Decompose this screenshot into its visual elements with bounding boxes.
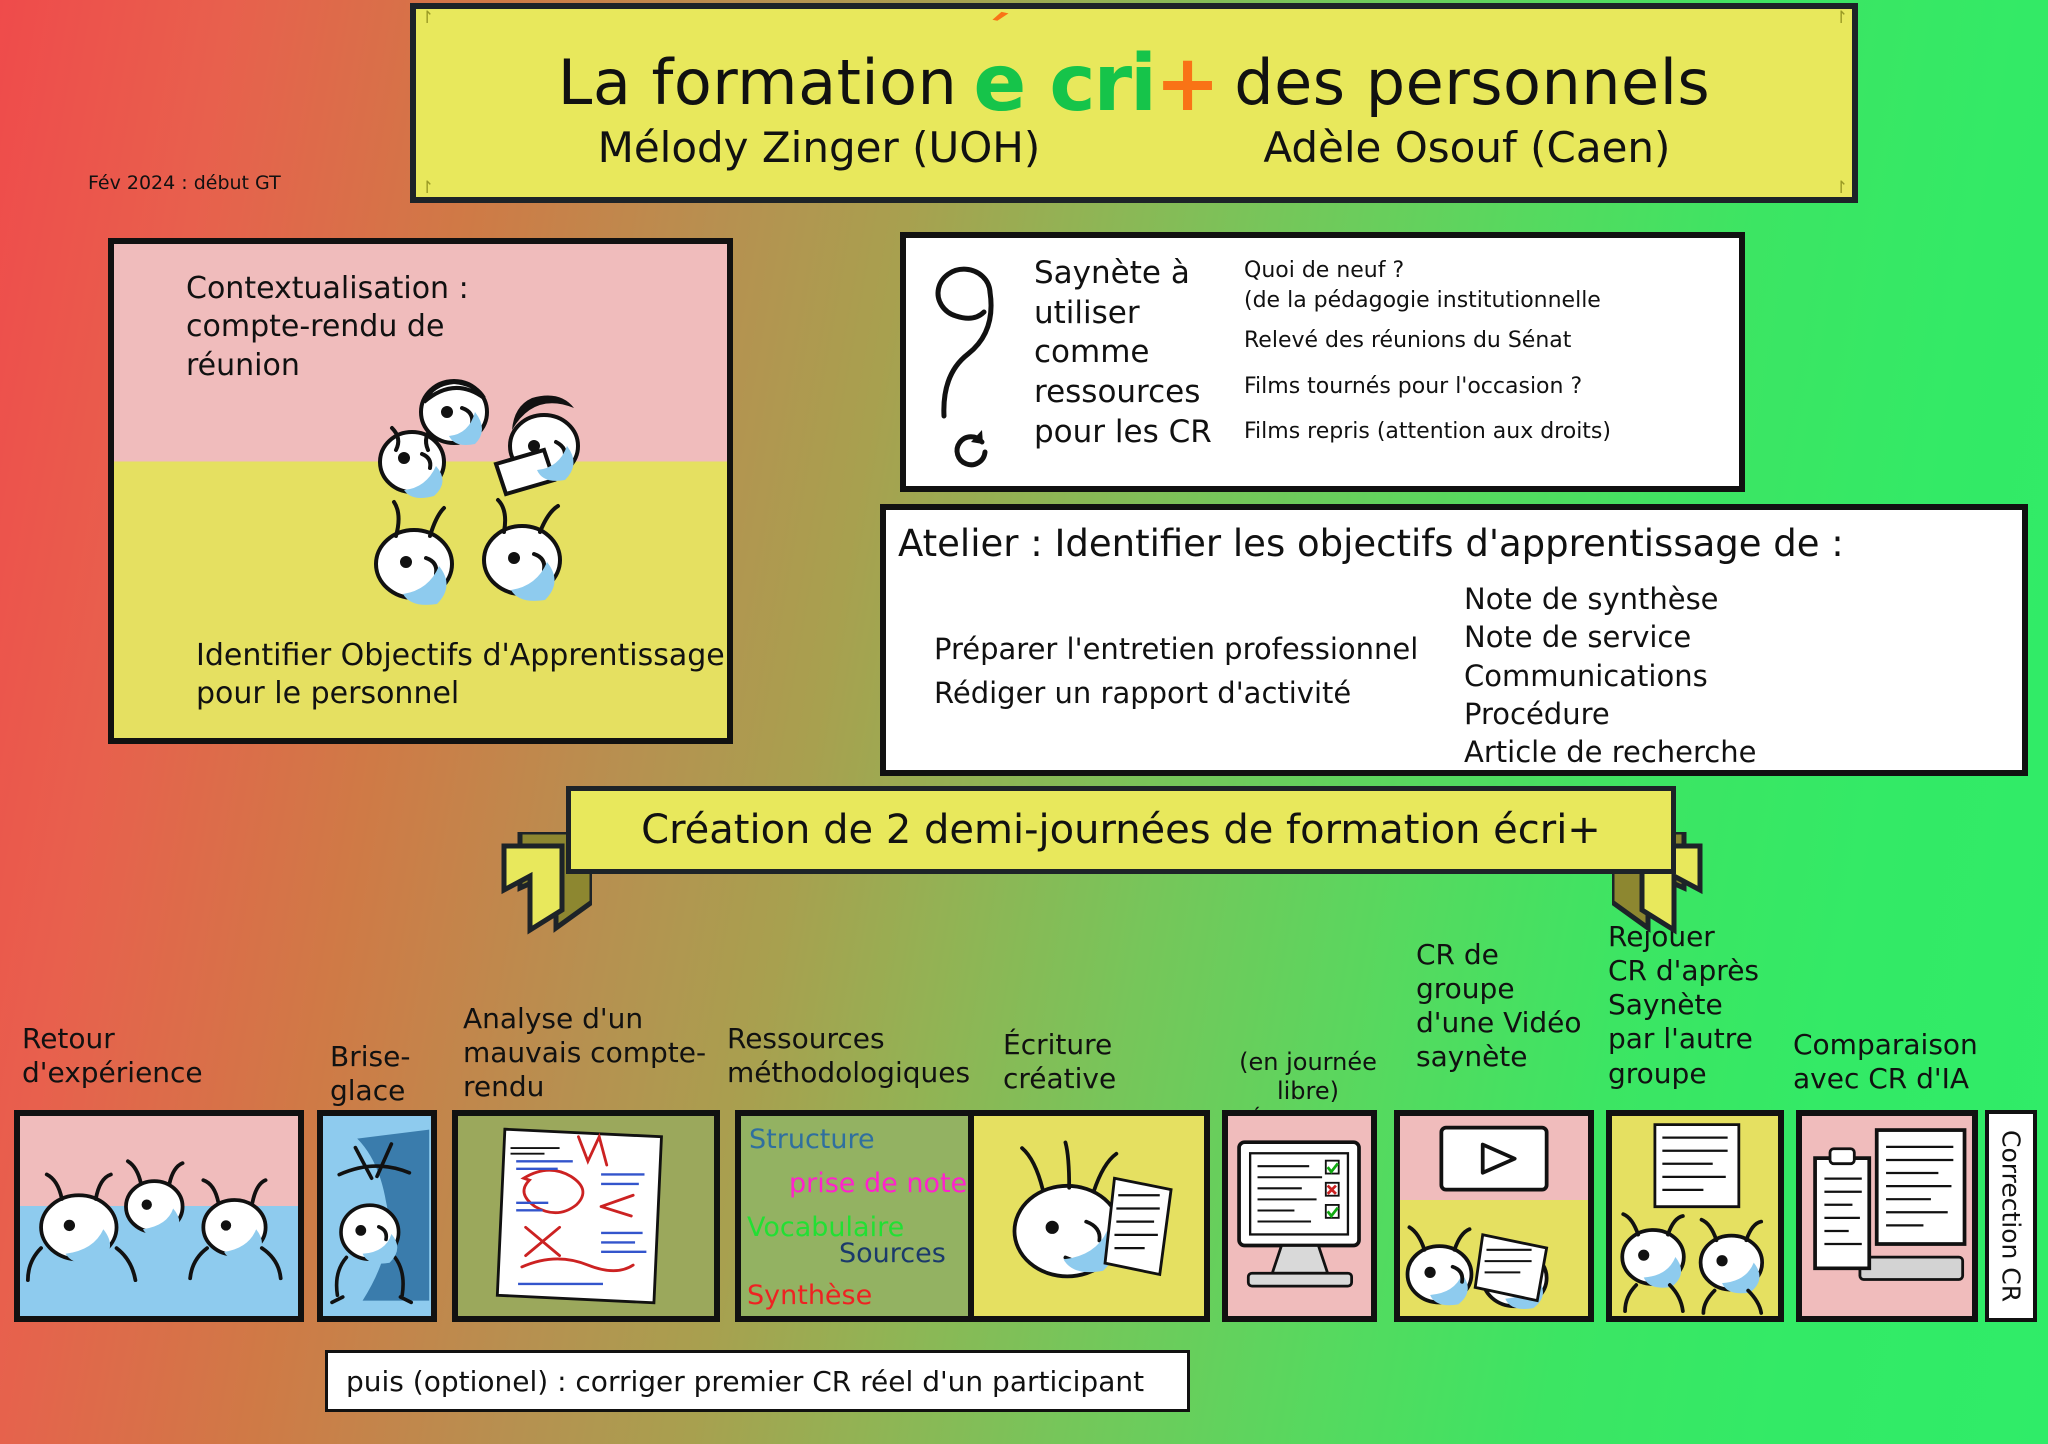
contextualisation-panel: Contextualisation : compte-rendu de réun… [108,238,733,744]
strip-caption-ressources-methodologiques: Ressources méthodologiques [727,1022,977,1090]
title-text-after: des personnels [1234,52,1710,114]
frame-retour-dexperience [14,1110,304,1322]
bottom-caption: puis (optionel) : corriger premier CR ré… [325,1350,1190,1412]
frame-rejouer-cr [1606,1110,1784,1322]
atelier-right-item-2: Communications [1464,657,1756,695]
compare-ai-doodle [1802,1116,1972,1316]
refresh-icon [948,426,994,472]
frame-ecriture-creative [968,1110,1210,1322]
ecriplus-logo: ´ e cri+ [973,45,1218,123]
creation-banner-label: Création de 2 demi-journées de formation… [566,786,1676,874]
date-note: Fév 2024 : début GT [88,172,281,194]
saynete-left-col: Saynète à utiliser comme ressources pour… [906,238,1244,486]
atelier-left-item-1: Rédiger un rapport d'activité [934,672,1418,716]
logo-letter-e: ´ e [973,39,1049,129]
corner-mark-tr: ↾ [1834,11,1848,25]
frame-ecriplus-test [1222,1110,1377,1322]
title-text-before: La formation [558,52,958,114]
atelier-right-items: Note de synthèse Note de service Communi… [1464,580,1756,771]
method-word-synthese: Synthèse [747,1280,872,1311]
atelier-box: Atelier : Identifier les objectifs d'app… [880,504,2028,776]
people-scene-doodle [20,1116,298,1316]
corner-mark-tl: ↾ [420,11,434,25]
frame-cr-groupe-video [1394,1110,1594,1322]
strip-caption-cr-groupe-video: CR de groupe d'une Vidéo saynète [1416,938,1606,1075]
saynete-box: Saynète à utiliser comme ressources pour… [900,232,1745,492]
authors-row: Mélody Zinger (UOH) Adèle Osouf (Caen) [416,123,1852,172]
strip-caption-rejouer-cr: Rejouer CR d'après Saynète par l'autre g… [1608,920,1788,1091]
atelier-right-item-1: Note de service [1464,618,1756,656]
strip-caption-analyse-mauvais-cr: Analyse d'un mauvais compte- rendu [463,1002,713,1104]
annotated-document-doodle [458,1116,714,1316]
atelier-right-item-4: Article de recherche [1464,733,1756,771]
saynete-items: Quoi de neuf ? (de la pédagogie institut… [1244,238,1739,486]
author-right: Adèle Osouf (Caen) [1263,123,1670,172]
strip-caption-retour-dexperience: Retour d'expérience [22,1022,252,1090]
saynete-label: Saynète à utiliser comme ressources pour… [1034,254,1212,452]
page-title: La formation ´ e cri+ des personnels [416,39,1852,117]
logo-plus: + [1155,39,1218,129]
saynete-item-4: Films repris (attention aux droits) [1244,418,1739,446]
atelier-right-item-0: Note de synthèse [1464,580,1756,618]
correction-cr-label: Correction CR [1997,1130,2026,1302]
atelier-title: Atelier : Identifier les objectifs d'app… [898,522,1844,565]
strip-caption-brise-glace: Brise- glace [330,1040,450,1108]
contextualisation-caption: Identifier Objectifs d'Apprentissage pou… [196,637,725,714]
meeting-doodle [344,354,664,644]
icebreaker-doodle [323,1116,431,1316]
method-word-structure: Structure [749,1124,875,1155]
frame-ressources-methodologiques[interactable]: Structure prise de note Vocabulaire Sour… [735,1110,993,1322]
atelier-left-item-0: Préparer l'entretien professionnel [934,628,1418,672]
screen-test-doodle [1228,1116,1371,1316]
atelier-left-items: Préparer l'entretien professionnel Rédig… [934,628,1418,715]
frame-brise-glace [317,1110,437,1322]
frame-correction-cr: Correction CR [1985,1110,2037,1322]
corner-mark-bl: ↾ [420,181,434,195]
saynete-item-0: Quoi de neuf ? [1244,256,1739,286]
author-left: Mélody Zinger (UOH) [598,123,1041,172]
frame-comparaison-ia [1796,1110,1978,1322]
strip-caption-comparaison-ia: Comparaison avec CR d'IA [1793,1028,2023,1096]
question-hook-icon [928,252,1014,422]
corner-mark-br: ↾ [1834,181,1848,195]
method-word-sources: Sources [839,1238,946,1269]
frame-analyse-mauvais-cr [452,1110,720,1322]
replay-saynete-doodle [1612,1116,1778,1316]
saynete-item-1: (de la pédagogie institutionnelle [1244,286,1739,316]
saynete-item-3: Films tournés pour l'occasion ? [1244,373,1739,401]
title-banner: ↾ ↾ ↾ ↾ La formation ´ e cri+ des person… [410,3,1858,203]
saynete-item-2: Relevé des réunions du Sénat [1244,327,1739,355]
logo-cri: cri [1049,39,1154,129]
video-saynete-doodle [1400,1116,1588,1316]
method-word-prise-de-note: prise de note [789,1168,967,1199]
atelier-right-item-3: Procédure [1464,695,1756,733]
strip-caption-ecriture-creative: Écriture créative [1003,1028,1193,1096]
writing-doodle [974,1116,1204,1316]
